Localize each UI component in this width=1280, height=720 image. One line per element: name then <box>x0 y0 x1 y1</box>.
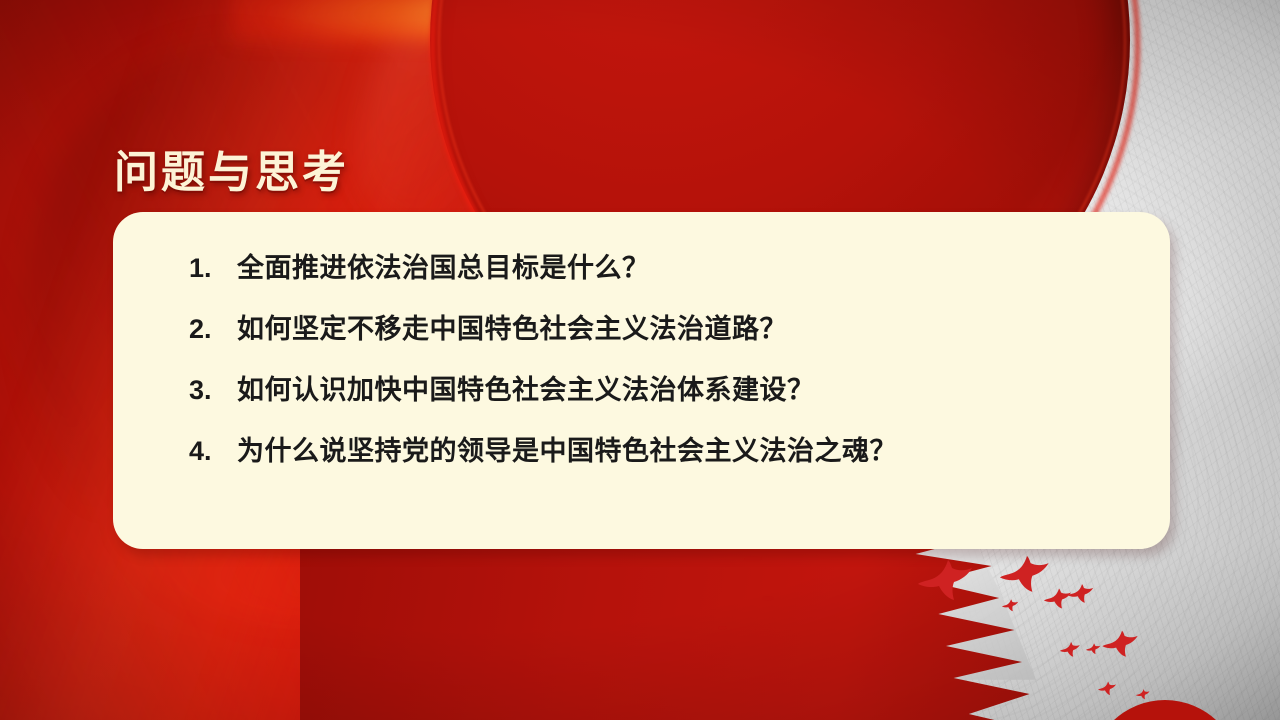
dove-icon <box>1068 582 1096 604</box>
dove-icon <box>1098 680 1118 696</box>
dove-icon <box>1136 688 1151 700</box>
question-card: 1. 全面推进依法治国总目标是什么？ 2. 如何坚定不移走中国特色社会主义法治道… <box>113 212 1170 549</box>
list-item-number: 2. <box>189 314 237 345</box>
list-item-label: 全面推进依法治国总目标是什么？ <box>237 246 650 285</box>
list-item-label: 为什么说坚持党的领导是中国特色社会主义法治之魂？ <box>237 429 897 468</box>
slide-root: 问题与思考 1. 全面推进依法治国总目标是什么？ 2. 如何坚定不移走中国特色社… <box>0 0 1280 720</box>
question-list: 1. 全面推进依法治国总目标是什么？ 2. 如何坚定不移走中国特色社会主义法治道… <box>189 246 1130 468</box>
list-item: 4. 为什么说坚持党的领导是中国特色社会主义法治之魂？ <box>189 429 1130 468</box>
dove-icon <box>1060 640 1082 658</box>
list-item-number: 3. <box>189 375 237 406</box>
list-item: 2. 如何坚定不移走中国特色社会主义法治道路？ <box>189 307 1130 346</box>
dove-icon <box>1002 598 1020 612</box>
dove-icon <box>1086 642 1102 655</box>
list-item: 3. 如何认识加快中国特色社会主义法治体系建设？ <box>189 368 1130 407</box>
list-item-number: 4. <box>189 436 237 467</box>
list-item-label: 如何认识加快中国特色社会主义法治体系建设？ <box>237 368 815 407</box>
list-item-number: 1. <box>189 253 237 284</box>
list-item-label: 如何坚定不移走中国特色社会主义法治道路？ <box>237 307 787 346</box>
page-title: 问题与思考 <box>114 136 349 200</box>
dove-icon <box>1102 628 1142 658</box>
list-item: 1. 全面推进依法治国总目标是什么？ <box>189 246 1130 285</box>
dove-icon <box>918 556 978 602</box>
